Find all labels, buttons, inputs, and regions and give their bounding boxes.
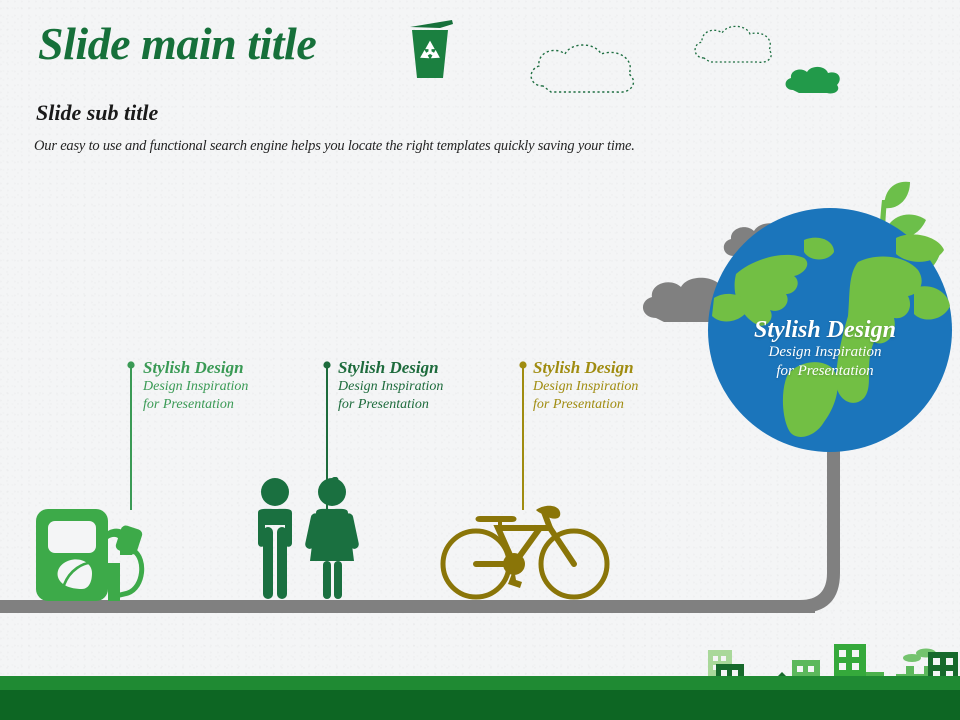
slide-canvas: Slide main title Slide sub title Our eas…	[0, 0, 960, 720]
page-subtitle: Slide sub title	[36, 100, 158, 126]
callout-stem	[518, 360, 528, 515]
callout-3-line2: for Presentation	[533, 396, 638, 414]
callout-1[interactable]: Stylish Design Design Inspiration for Pr…	[143, 358, 248, 414]
callout-1-title: Stylish Design	[143, 358, 248, 378]
callout-1-line1: Design Inspiration	[143, 378, 248, 396]
callout-stem	[126, 360, 136, 515]
cloud-dotted-icon	[690, 22, 776, 75]
callout-2[interactable]: Stylish Design Design Inspiration for Pr…	[338, 358, 443, 414]
cloud-dotted-icon	[525, 38, 650, 105]
callout-1-line2: for Presentation	[143, 396, 248, 414]
page-title: Slide main title	[38, 17, 316, 70]
lead-paragraph: Our easy to use and functional search en…	[34, 138, 635, 155]
footer-band-dark	[0, 690, 960, 720]
callout-3-title: Stylish Design	[533, 358, 638, 378]
callout-2-line1: Design Inspiration	[338, 378, 443, 396]
people-man-woman-icon[interactable]	[246, 477, 368, 608]
callout-3[interactable]: Stylish Design Design Inspiration for Pr…	[533, 358, 638, 414]
bicycle-icon[interactable]	[440, 498, 610, 607]
callout-2-title: Stylish Design	[338, 358, 443, 378]
callout-2-line2: for Presentation	[338, 396, 443, 414]
cloud-solid-green-icon	[781, 64, 843, 101]
globe-graphic: Stylish Design Design Inspiration for Pr…	[700, 178, 960, 478]
man-figure-icon	[258, 478, 292, 599]
callout-3-line1: Design Inspiration	[533, 378, 638, 396]
footer-band-light	[0, 676, 960, 690]
fuel-pump-leaf-icon[interactable]	[34, 503, 154, 608]
recycle-bin-icon	[400, 18, 460, 89]
woman-figure-icon	[304, 477, 359, 599]
